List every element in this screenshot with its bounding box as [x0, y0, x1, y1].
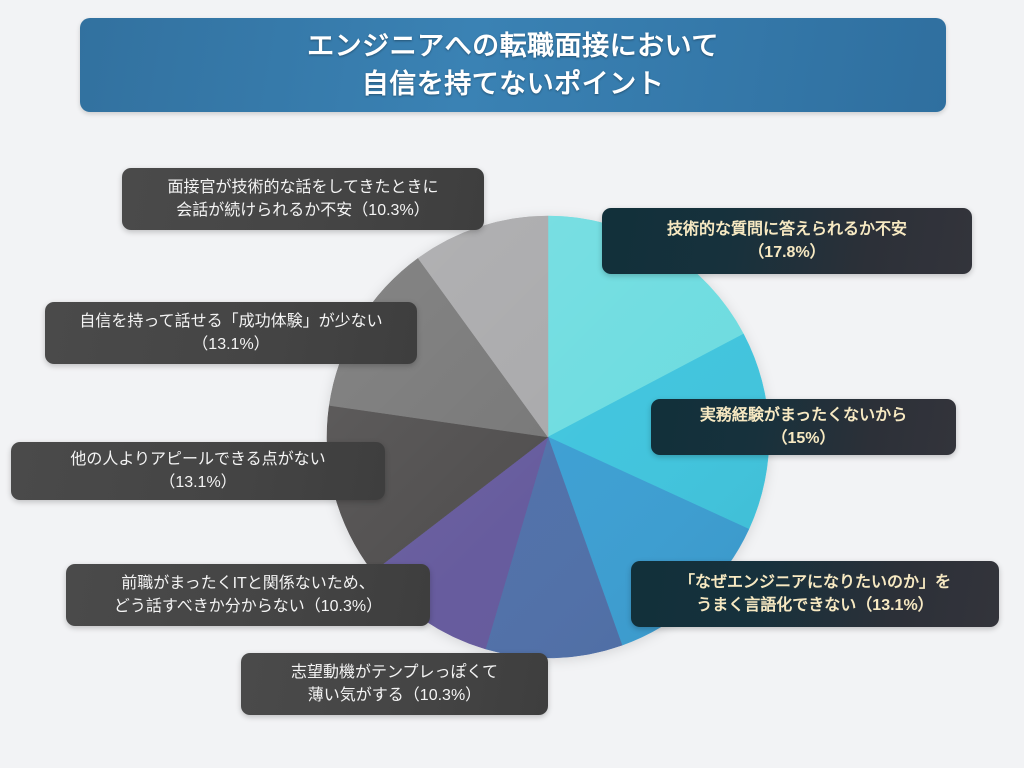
page-title: エンジニアへの転職面接において 自信を持てないポイント — [307, 27, 719, 104]
callout-conversation-worry[interactable]: 面接官が技術的な話をしてきたときに 会話が続けられるか不安（10.3%） — [122, 168, 484, 230]
callout-template-motivation[interactable]: 志望動機がテンプレっぽくて 薄い気がする（10.3%） — [241, 653, 548, 715]
callout-technical-question[interactable]: 技術的な質問に答えられるか不安 （17.8%） — [602, 208, 972, 274]
callout-non-it-background[interactable]: 前職がまったくITと関係ないため、 どう話すべきか分からない（10.3%） — [66, 564, 430, 626]
infographic-canvas: エンジニアへの転職面接において 自信を持てないポイント 技術的な質問に答えられる… — [0, 0, 1024, 768]
title-banner: エンジニアへの転職面接において 自信を持てないポイント — [80, 18, 946, 112]
callout-few-success-stories[interactable]: 自信を持って話せる「成功体験」が少ない （13.1%） — [45, 302, 417, 364]
callout-no-experience[interactable]: 実務経験がまったくないから （15%） — [651, 399, 956, 455]
callout-no-appeal-point[interactable]: 他の人よりアピールできる点がない （13.1%） — [11, 442, 385, 500]
callout-motivation-wording[interactable]: 「なぜエンジニアになりたいのか」を うまく言語化できない（13.1%） — [631, 561, 999, 627]
